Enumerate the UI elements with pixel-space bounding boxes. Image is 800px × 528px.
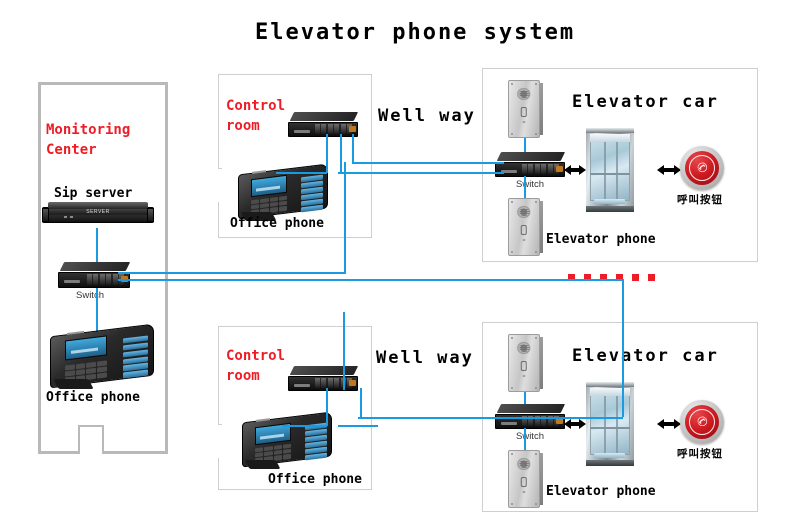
elevator-car-1-switch-label: Switch	[516, 179, 544, 190]
control-room-1-label-line1: Control	[226, 98, 285, 114]
link-cr2-switch-out-a	[360, 388, 362, 417]
elevator-car-2-switch-label: Switch	[516, 431, 544, 442]
trunk-into-ec2-switch	[478, 417, 623, 419]
arrow-ec1-cabin-to-callbutton	[664, 168, 674, 172]
elevator-car-2-phone-label: Elevator phone	[546, 484, 656, 499]
elevator-car-1-call-button[interactable]: ✆	[680, 146, 724, 190]
trunk-cr2-phone-branch	[338, 425, 378, 427]
sip-server-icon[interactable]: SERVER	[42, 202, 154, 228]
elevator-car-2-call-button-label: 呼叫按钮	[677, 446, 723, 461]
link-cr1-switch-to-phone-v	[326, 134, 328, 173]
elevator-car-1-phone-upper-icon[interactable]	[508, 80, 540, 138]
diagram-canvas: Elevator phone system Monitoring Center …	[0, 0, 800, 528]
link-cr2-switch-to-phone-v	[326, 388, 328, 426]
control-room-1-wall-gap	[216, 168, 224, 202]
monitoring-center-wall-gap	[78, 425, 104, 454]
trunk-mc-switch-to-cr1	[118, 272, 346, 274]
arrow-ec2-switch-to-cabin	[571, 422, 579, 426]
elevator-car-2-call-button[interactable]: ✆	[680, 400, 724, 444]
link-cr1-switch-out-a	[340, 134, 342, 172]
elevator-car-1-switch-icon[interactable]	[495, 152, 565, 177]
monitoring-center-switch-icon[interactable]	[58, 262, 130, 288]
trunk-cr1-to-ec1-switch	[352, 162, 504, 164]
sip-server-label: Sip server	[54, 186, 132, 201]
control-room-2-wall-gap	[216, 424, 224, 458]
trunk-vertical-cr1	[344, 162, 346, 273]
control-room-1-label-line2: room	[226, 118, 260, 134]
link-cr1-switch-to-phone-h	[276, 172, 327, 174]
control-room-2-office-phone-label: Office phone	[268, 472, 362, 487]
link-ec2-switch-to-lower-phone	[524, 428, 526, 452]
control-room-1-office-phone-icon[interactable]	[238, 166, 328, 220]
well-way-1-label: Well way	[378, 106, 476, 126]
trunk-vertical-ec2	[622, 279, 624, 417]
control-room-1-office-phone-label: Office phone	[230, 216, 324, 231]
link-ec1-switch-to-lower-phone	[524, 176, 526, 200]
trunk-cr1-phone-to-ec1	[338, 172, 504, 174]
elevator-car-1-call-button-label: 呼叫按钮	[677, 192, 723, 207]
monitoring-center-office-phone-icon[interactable]	[50, 326, 154, 388]
elevator-car-2-phone-lower-icon[interactable]	[508, 450, 540, 508]
monitoring-center-label-line2: Center	[46, 142, 97, 158]
arrow-ec1-switch-to-cabin	[571, 168, 579, 172]
well-way-2-label: Well way	[376, 348, 474, 368]
arrow-ec2-cabin-to-callbutton	[664, 422, 674, 426]
elevator-car-1-title: Elevator car	[572, 92, 719, 112]
monitoring-center-label-line1: Monitoring	[46, 122, 130, 138]
trunk-mc-switch-to-ec2	[118, 279, 623, 281]
page-title: Elevator phone system	[255, 20, 575, 45]
elevator-car-2-cabin-icon	[586, 382, 634, 466]
monitoring-center-switch-label: Switch	[76, 290, 104, 301]
link-sipserver-to-switch	[96, 228, 98, 264]
link-cr2-switch-up	[343, 312, 345, 390]
control-room-1-switch-icon[interactable]	[288, 112, 358, 137]
link-cr2-switch-to-phone-h	[282, 425, 327, 427]
elevator-car-1-phone-lower-icon[interactable]	[508, 198, 540, 256]
trunk-cr2-to-ec2	[358, 417, 480, 419]
elevator-car-1-phone-label: Elevator phone	[546, 232, 656, 247]
control-room-2-label-line1: Control	[226, 348, 285, 364]
elevator-car-2-phone-upper-icon[interactable]	[508, 334, 540, 392]
monitoring-center-office-phone-label: Office phone	[46, 390, 140, 405]
link-cr1-switch-out-b	[352, 134, 354, 162]
control-room-2-label-line2: room	[226, 368, 260, 384]
elevator-car-1-cabin-icon	[586, 128, 634, 212]
elevator-car-2-title: Elevator car	[572, 346, 719, 366]
control-room-2-office-phone-icon[interactable]	[242, 414, 332, 468]
control-room-2-switch-icon[interactable]	[288, 366, 358, 391]
